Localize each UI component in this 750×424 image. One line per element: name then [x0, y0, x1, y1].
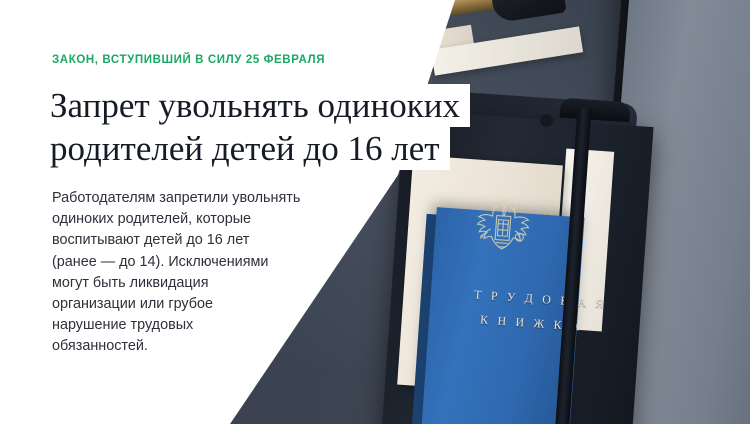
body-text: Работодателям запретили увольнять одинок… [52, 188, 300, 358]
headline-line-2: родителей детей до 16 лет [50, 127, 444, 170]
black-dot-mark [540, 114, 553, 127]
headline-line-1: Запрет увольнять одиноких [50, 84, 464, 127]
page-title: Запрет увольнять одиноких родителей дете… [50, 84, 464, 170]
eyebrow-label: ЗАКОН, ВСТУПИВШИЙ В СИЛУ 25 ФЕВРАЛЯ [52, 54, 325, 66]
russian-eagle-emblem [467, 188, 538, 266]
news-card: Т Р У Д О В А Я К Н И Ж К А ЗАКОН, ВСТУП… [0, 0, 750, 424]
